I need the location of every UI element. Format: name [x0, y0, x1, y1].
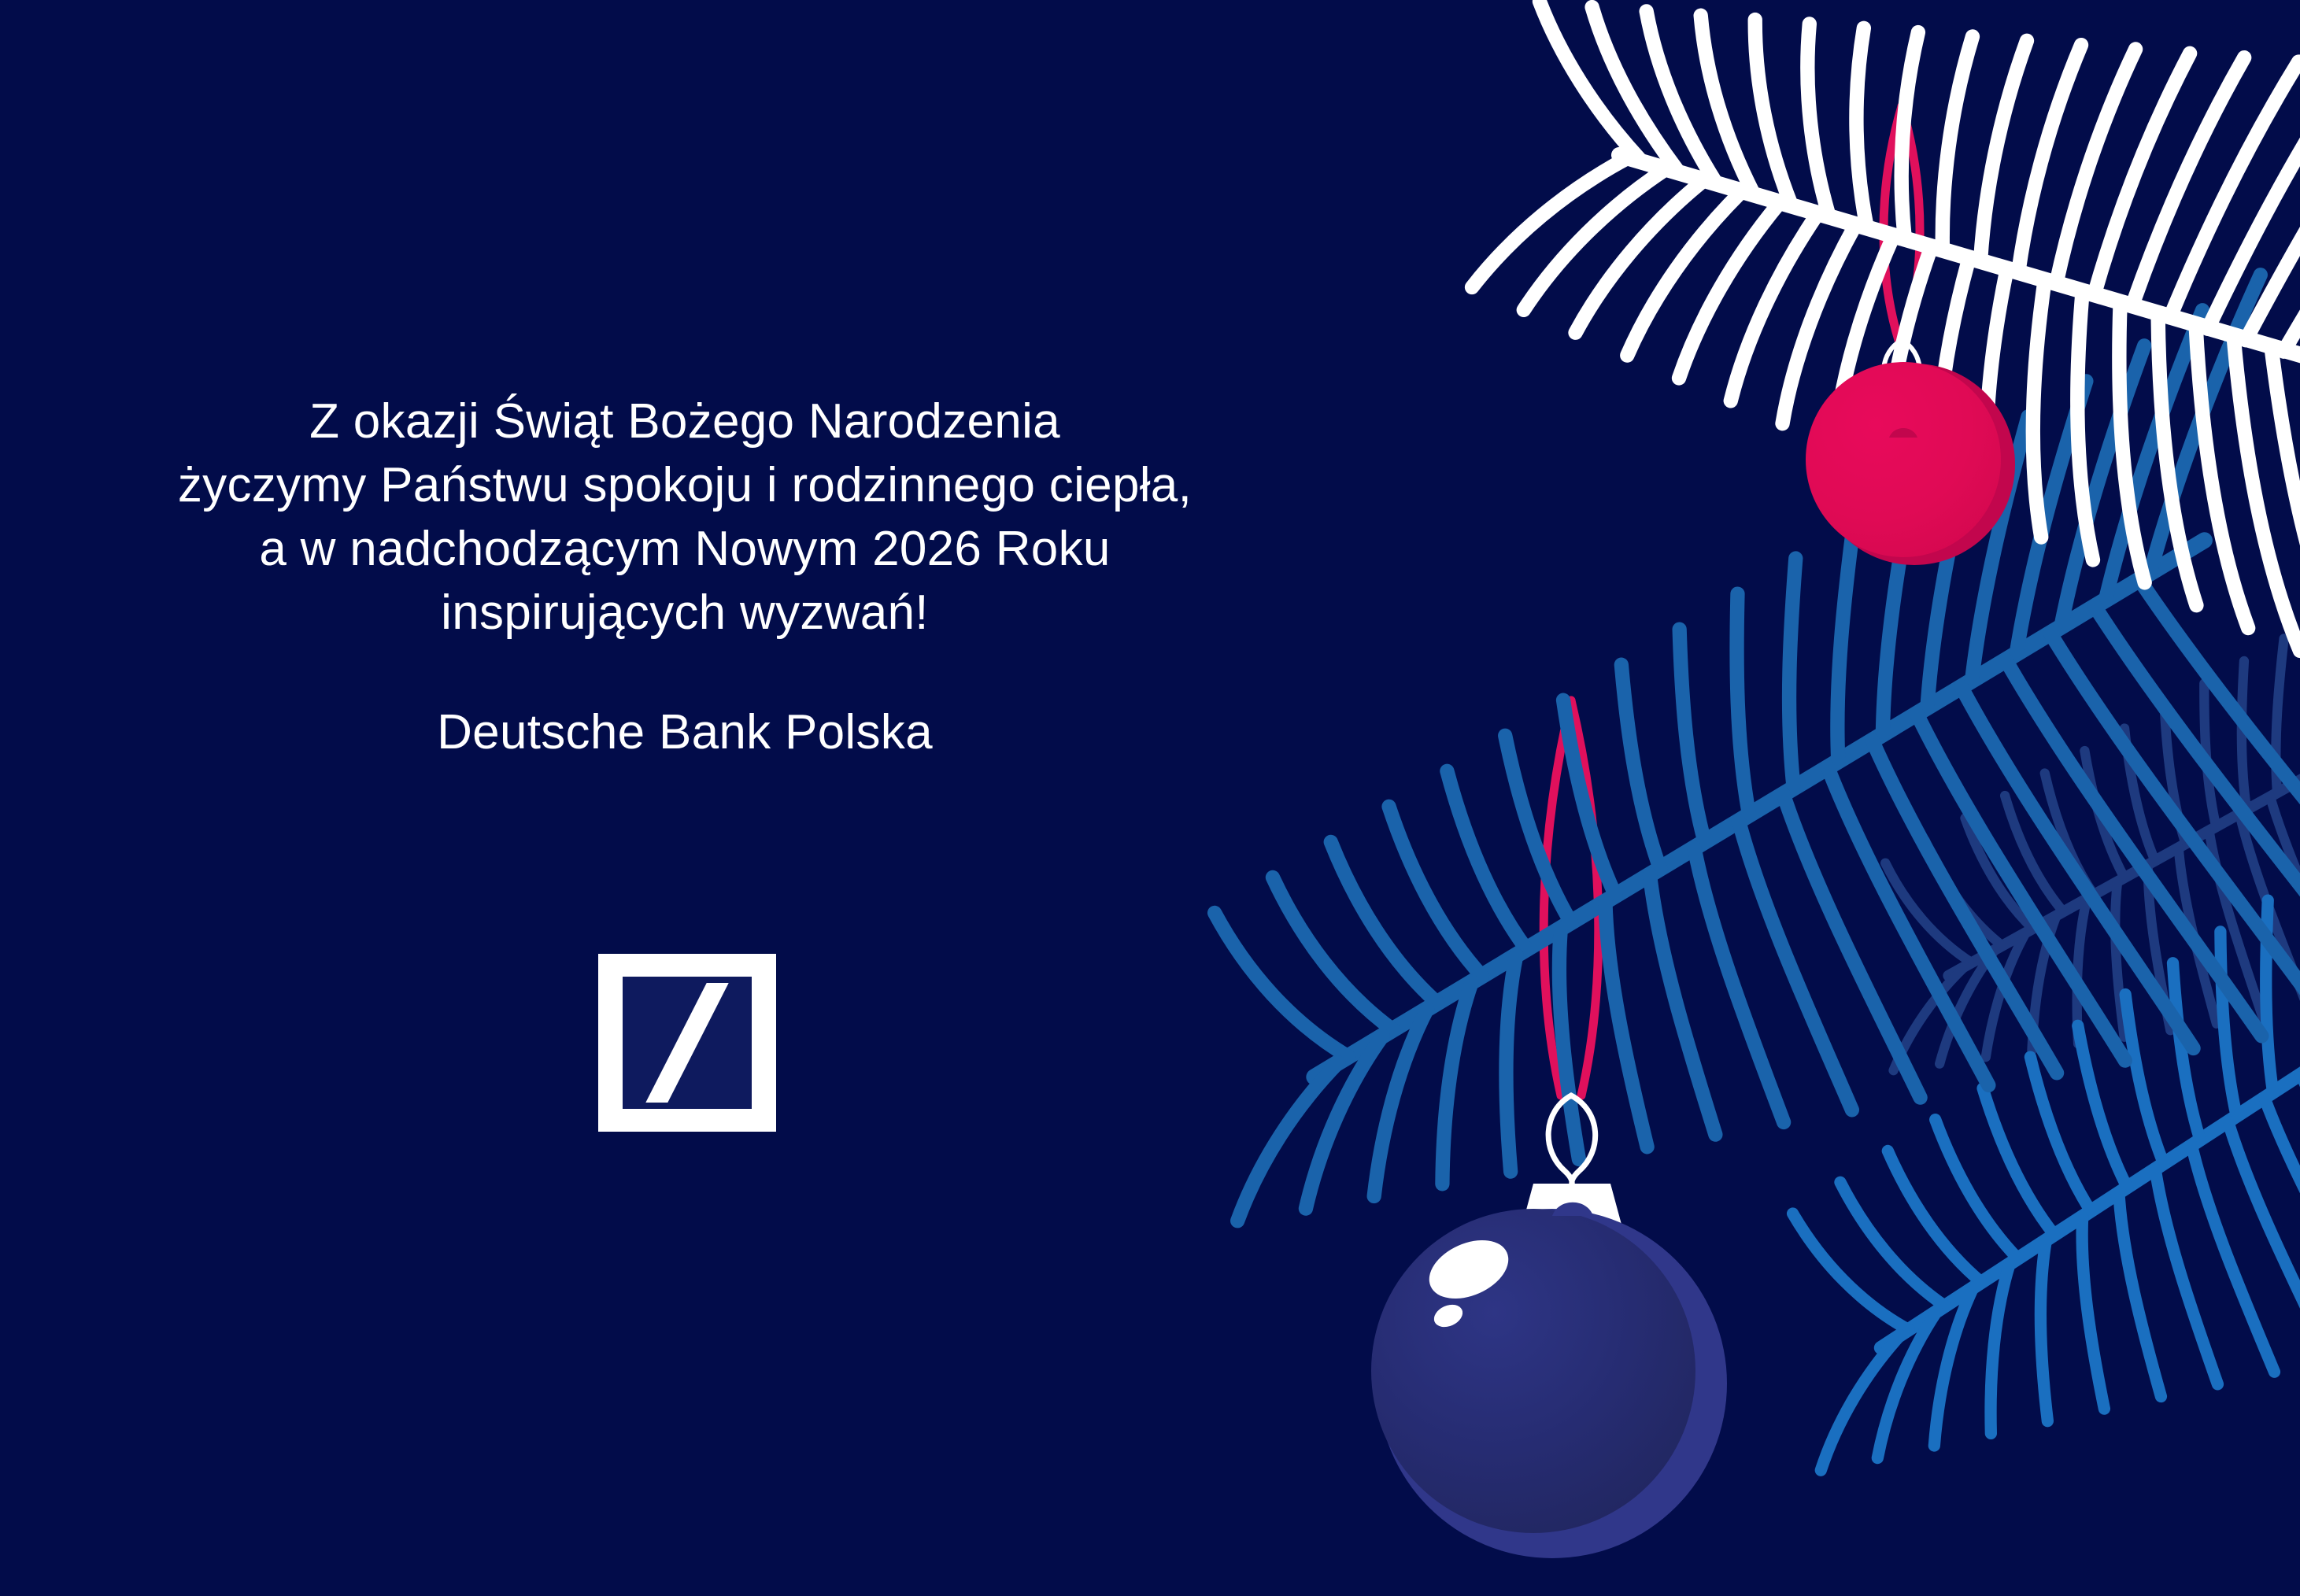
signature: Deutsche Bank Polska: [0, 700, 1370, 764]
greeting-message: Z okazji Świąt Bożego Narodzenia życzymy…: [0, 390, 1370, 645]
deutsche-bank-logo-icon: [598, 954, 776, 1132]
pink-bauble-hanging-string: [1884, 106, 1920, 340]
deutsche-bank-logo-field: [623, 977, 752, 1109]
christmas-greeting-card: Z okazji Świąt Bożego Narodzenia życzymy…: [0, 0, 2300, 1596]
white-fir-branch-top-right: [1433, 0, 2300, 700]
greeting-line-2: życzymy Państwu spokoju i rodzinnego cie…: [0, 453, 1370, 517]
greeting-line-1: Z okazji Świąt Bożego Narodzenia: [0, 390, 1370, 453]
blue-bauble: [1371, 1095, 1727, 1558]
bright-blue-fir-branch-bottom-right: [1662, 647, 2300, 1553]
signature-name: Deutsche Bank Polska: [0, 700, 1370, 764]
blue-bauble-hanging-string: [1544, 700, 1599, 1095]
deutsche-bank-logo-slash: [645, 983, 728, 1103]
greeting-line-4: inspirujących wyzwań!: [0, 581, 1370, 645]
pink-bauble: [1806, 340, 2015, 565]
message-content: Z okazji Świąt Bożego Narodzenia życzymy…: [0, 0, 1377, 1596]
dark-blue-fir-branch-bottom-right: [1795, 457, 2300, 1138]
greeting-line-3: a w nadchodzącym Nowym 2026 Roku: [0, 517, 1370, 581]
